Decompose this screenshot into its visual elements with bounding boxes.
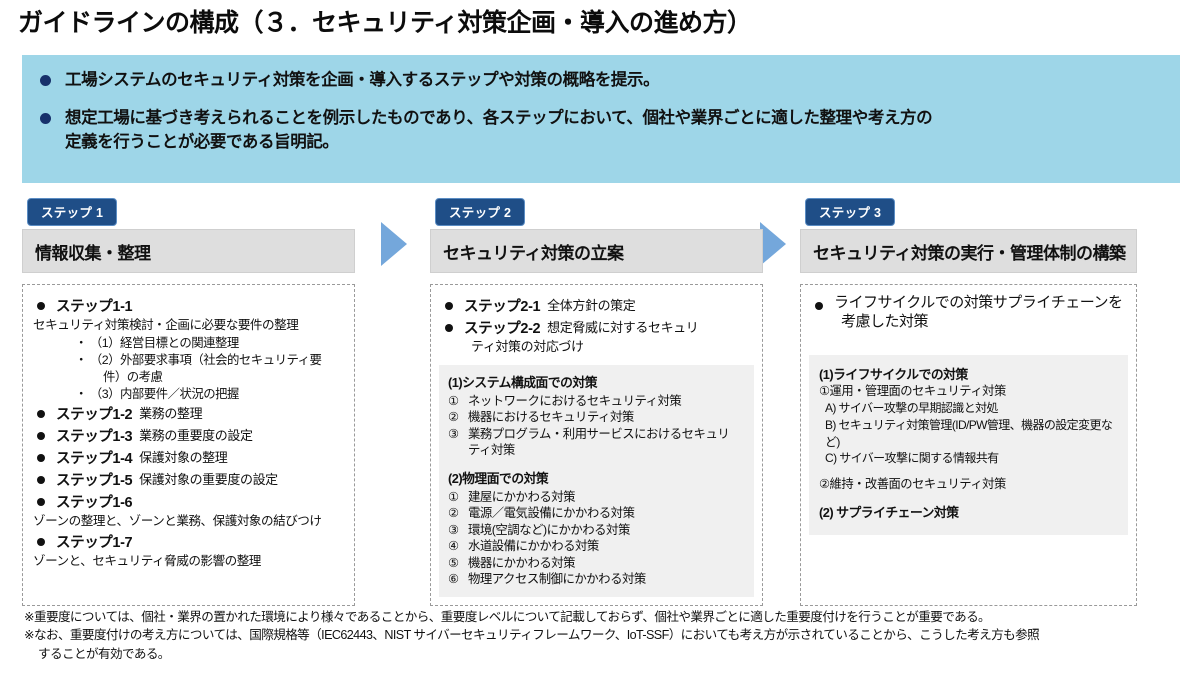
step-heading-2: セキュリティ対策の立案 (430, 229, 763, 273)
group-item: ⑤ 機器にかかわる対策 (448, 555, 745, 572)
step-badge-2: ステップ 2 (435, 198, 525, 226)
step-3-lead-line2: 考慮した対策 (841, 312, 1128, 332)
summary-item-line2: 定義を行うことが必要である旨明記。 (65, 133, 339, 151)
item-number: ③ (448, 426, 468, 443)
footnote-line-3: することが有効である。 (38, 645, 1184, 663)
list-item: ステップ1-4 保護対象の整理 (31, 447, 346, 468)
summary-item: 想定工場に基づき考えられることを例示したものであり、各ステップにおいて、個社や業… (40, 107, 1162, 155)
step-label-tail: 業務の重要度の設定 (139, 425, 252, 444)
group-subitem: A) サイバー攻撃の早期認識と対処 (825, 400, 1118, 417)
step-column-1: ステップ 1 情報収集・整理 ステップ1-1 セキュリティ対策検討・企画に必要な… (22, 198, 362, 606)
step-label: ステップ1-1 (56, 295, 132, 316)
item-number: ③ (448, 522, 468, 539)
flow-arrow-icon (381, 222, 407, 266)
step-label: ステップ1-4 (56, 447, 132, 468)
measure-group-lifecycle: (1)ライフサイクルでの対策 ①運用・管理面のセキュリティ対策 A) サイバー攻… (809, 355, 1128, 536)
step-label-tail: 保護対象の整理 (139, 447, 227, 466)
item-text: ネットワークにおけるセキュリティ対策 (468, 393, 745, 410)
group-subitem: B) セキュリティ対策管理(ID/PW管理、機器の設定変更など) (825, 417, 1118, 451)
summary-callout: 工場システムのセキュリティ対策を企画・導入するステップや対策の概略を提示。 想定… (22, 55, 1180, 183)
item-text: 建屋にかかわる対策 (468, 489, 745, 506)
step-label-tail: 想定脅威に対するセキュリ (547, 317, 698, 336)
item-number: ① (448, 489, 468, 506)
step-body-3: ライフサイクルでの対策サプライチェーンを 考慮した対策 (1)ライフサイクルでの… (800, 284, 1137, 606)
group-item: ⑥ 物理アクセス制御にかかわる対策 (448, 571, 745, 588)
item-number: ⑤ (448, 555, 468, 572)
step-body-2: ステップ2-1 全体方針の策定 ステップ2-2 想定脅威に対するセキュリ ティ対… (430, 284, 763, 606)
item-number: ① (448, 393, 468, 410)
bullet-icon (445, 324, 453, 332)
step-1-1-description: セキュリティ対策検討・企画に必要な要件の整理 (33, 317, 346, 334)
list-item: ステップ2-2 想定脅威に対するセキュリ (439, 317, 754, 338)
group-title: (1)システム構成面での対策 (448, 372, 745, 391)
step-1-7-description: ゾーンと、セキュリティ脅威の影響の整理 (33, 553, 346, 570)
step-badge-3: ステップ 3 (805, 198, 895, 226)
item-text: 物理アクセス制御にかかわる対策 (468, 571, 745, 588)
group-item: ③ 環境(空調など)にかかわる対策 (448, 522, 745, 539)
step-heading-1: 情報収集・整理 (22, 229, 355, 273)
step-2-2-continuation: ティ対策の対応づけ (471, 339, 754, 356)
group-item: ② 電源／電気設備にかかわる対策 (448, 505, 745, 522)
measure-group-system: (1)システム構成面での対策 ① ネットワークにおけるセキュリティ対策 ② 機器… (439, 365, 754, 597)
footnote-line-2: ※なお、重要度付けの考え方については、国際規格等（IEC62443、NIST サ… (24, 626, 1184, 644)
step-3-lead-line1: ライフサイクルでの対策サプライチェーンを (834, 293, 1123, 313)
bullet-icon (445, 302, 453, 310)
list-item: ステップ1-2 業務の整理 (31, 403, 346, 424)
item-text: 業務プログラム・利用サービスにおけるセキュリ (468, 426, 745, 443)
list-item: ステップ1-5 保護対象の重要度の設定 (31, 469, 346, 490)
bullet-icon (815, 302, 823, 310)
group-item: ③ 業務プログラム・利用サービスにおけるセキュリ (448, 426, 745, 443)
bullet-icon (40, 75, 51, 86)
step-body-1: ステップ1-1 セキュリティ対策検討・企画に必要な要件の整理 ・ （1）経営目標… (22, 284, 355, 606)
step-label: ステップ2-1 (464, 295, 540, 316)
bullet-icon (37, 476, 45, 484)
list-item: ステップ1-3 業務の重要度の設定 (31, 425, 346, 446)
list-item: ステップ1-6 (31, 491, 346, 512)
item-text: 水道設備にかかわる対策 (468, 538, 745, 555)
step-label: ステップ1-5 (56, 469, 132, 490)
item-text: ティ対策 (468, 442, 745, 459)
group-item: ④ 水道設備にかかわる対策 (448, 538, 745, 555)
step-1-6-description: ゾーンの整理と、ゾーンと業務、保護対象の結びつけ (33, 513, 346, 530)
group-item: ① 建屋にかかわる対策 (448, 489, 745, 506)
bullet-icon (40, 113, 51, 124)
group-title: (2)物理面での対策 (448, 468, 745, 487)
step-1-1-subitem-cont: 件）の考慮 (103, 369, 346, 385)
list-item: ステップ2-1 全体方針の策定 (439, 295, 754, 316)
step-1-1-subitem: ・ （3）内部要件／状況の把握 (89, 386, 346, 402)
group-item: ② 機器におけるセキュリティ対策 (448, 409, 745, 426)
group-item: ① ネットワークにおけるセキュリティ対策 (448, 393, 745, 410)
summary-item-text: 工場システムのセキュリティ対策を企画・導入するステップや対策の概略を提示。 (65, 69, 659, 93)
group-title: (1)ライフサイクルでの対策 (819, 364, 1118, 383)
item-text: 機器にかかわる対策 (468, 555, 745, 572)
group-item: ②維持・改善面のセキュリティ対策 (819, 476, 1118, 493)
group-subitem: C) サイバー攻撃に関する情報共有 (825, 450, 1118, 467)
item-number: ② (448, 505, 468, 522)
step-badge-1: ステップ 1 (27, 198, 117, 226)
item-text: 環境(空調など)にかかわる対策 (468, 522, 745, 539)
item-text: 電源／電気設備にかかわる対策 (468, 505, 745, 522)
group-item-continuation: ティ対策 (448, 442, 745, 459)
page-title: ガイドラインの構成（３．セキュリティ対策企画・導入の進め方） (18, 8, 1178, 38)
step-heading-3: セキュリティ対策の実行・管理体制の構築 (800, 229, 1137, 273)
spacer (448, 459, 745, 468)
step-1-1-subitem: ・ （2）外部要求事項（社会的セキュリティ要 (89, 352, 346, 368)
step-label-tail: 保護対象の重要度の設定 (139, 469, 278, 488)
step-label: ステップ1-2 (56, 403, 132, 424)
bullet-icon (37, 432, 45, 440)
summary-item-text-block: 想定工場に基づき考えられることを例示したものであり、各ステップにおいて、個社や業… (65, 107, 932, 155)
spacer (819, 493, 1118, 502)
bullet-icon (37, 498, 45, 506)
footnotes: ※重要度については、個社・業界の置かれた環境により様々であることから、重要度レベ… (24, 608, 1184, 663)
group-item: ①運用・管理面のセキュリティ対策 (819, 383, 1118, 400)
item-number: ④ (448, 538, 468, 555)
list-item: ステップ1-7 (31, 531, 346, 552)
bullet-icon (37, 302, 45, 310)
step-label-tail: 業務の整理 (139, 403, 202, 422)
bullet-icon (37, 410, 45, 418)
summary-item: 工場システムのセキュリティ対策を企画・導入するステップや対策の概略を提示。 (40, 69, 1162, 93)
bullet-icon (37, 538, 45, 546)
step-label: ステップ1-7 (56, 531, 132, 552)
bullet-icon (37, 454, 45, 462)
list-item: ライフサイクルでの対策サプライチェーンを (809, 295, 1128, 313)
step-1-1-subitem: ・ （1）経営目標との関連整理 (89, 335, 346, 351)
spacer (819, 467, 1118, 476)
step-column-3: ステップ 3 セキュリティ対策の実行・管理体制の構築 ライフサイクルでの対策サプ… (800, 198, 1142, 606)
step-label: ステップ2-2 (464, 317, 540, 338)
item-number: ② (448, 409, 468, 426)
item-number: ⑥ (448, 571, 468, 588)
step-label: ステップ1-3 (56, 425, 132, 446)
item-text: 機器におけるセキュリティ対策 (468, 409, 745, 426)
step-label-tail: 全体方針の策定 (547, 295, 635, 314)
step-label: ステップ1-6 (56, 491, 132, 512)
step-column-2: ステップ 2 セキュリティ対策の立案 ステップ2-1 全体方針の策定 ステップ2… (430, 198, 770, 606)
group-title: (2) サプライチェーン対策 (819, 502, 1118, 521)
summary-item-line1: 想定工場に基づき考えられることを例示したものであり、各ステップにおいて、個社や業… (65, 109, 932, 127)
footnote-line-1: ※重要度については、個社・業界の置かれた環境により様々であることから、重要度レベ… (24, 608, 1184, 626)
list-item: ステップ1-1 (31, 295, 346, 316)
